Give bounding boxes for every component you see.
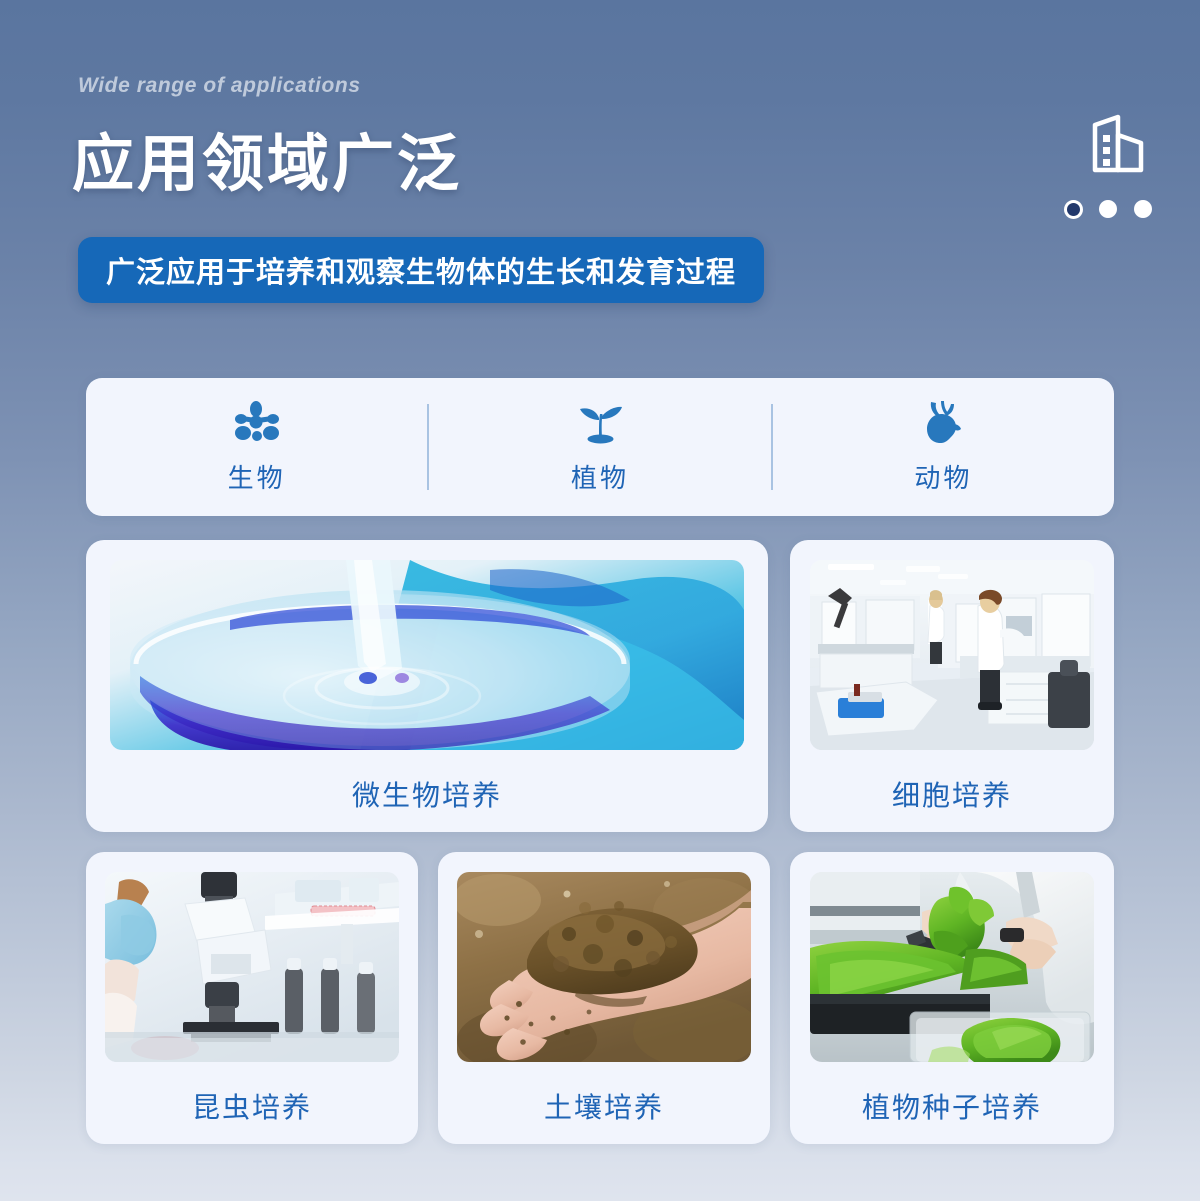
application-card-microbial[interactable]: 微生物培养 xyxy=(86,540,768,832)
card-label: 昆虫培养 xyxy=(86,1086,418,1126)
application-card-cell[interactable]: 细胞培养 xyxy=(790,540,1114,832)
green-seedlings-trays-photo xyxy=(810,872,1094,1062)
category-label: 动物 xyxy=(914,458,972,495)
card-label: 土壤培养 xyxy=(438,1086,770,1126)
sprout-icon xyxy=(575,400,625,446)
deer-head-icon xyxy=(918,400,968,446)
card-label: 植物种子培养 xyxy=(790,1086,1114,1126)
category-item-animal[interactable]: 动物 xyxy=(773,400,1114,495)
application-card-insect[interactable]: 昆虫培养 xyxy=(86,852,418,1144)
category-item-bio[interactable]: 生物 xyxy=(86,400,427,495)
white-laboratory-scientists-photo xyxy=(810,560,1094,750)
tagline-banner: 广泛应用于培养和观察生物体的生长和发育过程 xyxy=(78,237,764,303)
microscope-gloved-hand-photo xyxy=(105,872,399,1062)
building-icon xyxy=(1087,113,1149,175)
card-label: 细胞培养 xyxy=(790,774,1114,814)
carousel-dot-2[interactable] xyxy=(1099,200,1117,218)
promo-page: Wide range of applications 应用领域广泛 广泛应用于培… xyxy=(0,0,1200,1201)
carousel-dot-1[interactable] xyxy=(1067,203,1080,216)
category-label: 生物 xyxy=(228,458,286,495)
application-card-soil[interactable]: 土壤培养 xyxy=(438,852,770,1144)
category-item-plant[interactable]: 植物 xyxy=(429,400,770,495)
petri-dish-pipette-blue-liquid-photo xyxy=(110,560,744,750)
application-card-seed[interactable]: 植物种子培养 xyxy=(790,852,1114,1144)
category-label: 植物 xyxy=(571,458,629,495)
tagline-text: 广泛应用于培养和观察生物体的生长和发育过程 xyxy=(106,249,736,291)
molecule-icon xyxy=(232,400,282,446)
category-strip: 生物 植物 xyxy=(86,378,1114,516)
eyebrow-text: Wide range of applications xyxy=(78,74,361,98)
card-label: 微生物培养 xyxy=(86,774,768,814)
carousel-dot-3[interactable] xyxy=(1134,200,1152,218)
carousel-pagination[interactable] xyxy=(1064,200,1152,218)
page-title: 应用领域广泛 xyxy=(72,113,462,203)
hand-holding-soil-photo xyxy=(457,872,751,1062)
